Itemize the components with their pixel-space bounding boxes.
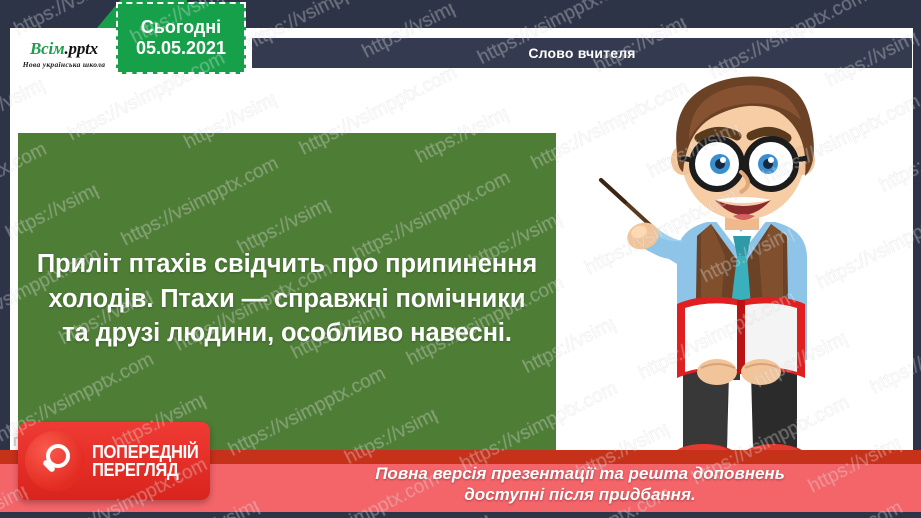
today-date-badge: Сьогодні 05.05.2021	[116, 2, 246, 74]
window-frame-right	[913, 0, 921, 518]
today-label: Сьогодні	[141, 17, 221, 38]
lesson-content-text: Приліт птахів свідчить про припинення хо…	[34, 247, 540, 351]
preview-badge-line2: ПЕРЕГЛЯД	[92, 461, 198, 479]
cartoon-teacher-illustration	[565, 60, 915, 480]
section-header-bar: Слово вчителя	[252, 38, 912, 68]
magnifier-icon	[25, 431, 85, 491]
window-frame-left	[0, 0, 10, 518]
window-frame-bottom	[0, 512, 921, 518]
footer-message-line1: Повна версія презентації та решта доповн…	[250, 463, 910, 485]
logo-name-suffix: .pptx	[64, 39, 97, 58]
footer-message-line2: доступні після придбання.	[250, 484, 910, 506]
logo-wordmark: Всім.pptx	[30, 40, 98, 57]
today-date-value: 05.05.2021	[136, 38, 226, 59]
lesson-content-panel: Приліт птахів свідчить про припинення хо…	[18, 133, 556, 465]
preview-badge[interactable]: ПОПЕРЕДНІЙ ПЕРЕГЛЯД	[18, 422, 210, 500]
site-logo[interactable]: Всім.pptx Нова українська школа	[10, 28, 118, 80]
slide-canvas: Приліт птахів свідчить про припинення хо…	[0, 0, 921, 518]
section-header-title: Слово вчителя	[528, 45, 635, 61]
footer-message: Повна версія презентації та решта доповн…	[250, 463, 910, 507]
preview-badge-text: ПОПЕРЕДНІЙ ПЕРЕГЛЯД	[92, 443, 198, 480]
logo-name-prefix: Всім	[30, 39, 64, 58]
logo-tagline: Нова українська школа	[23, 60, 106, 69]
preview-badge-line1: ПОПЕРЕДНІЙ	[92, 443, 198, 461]
